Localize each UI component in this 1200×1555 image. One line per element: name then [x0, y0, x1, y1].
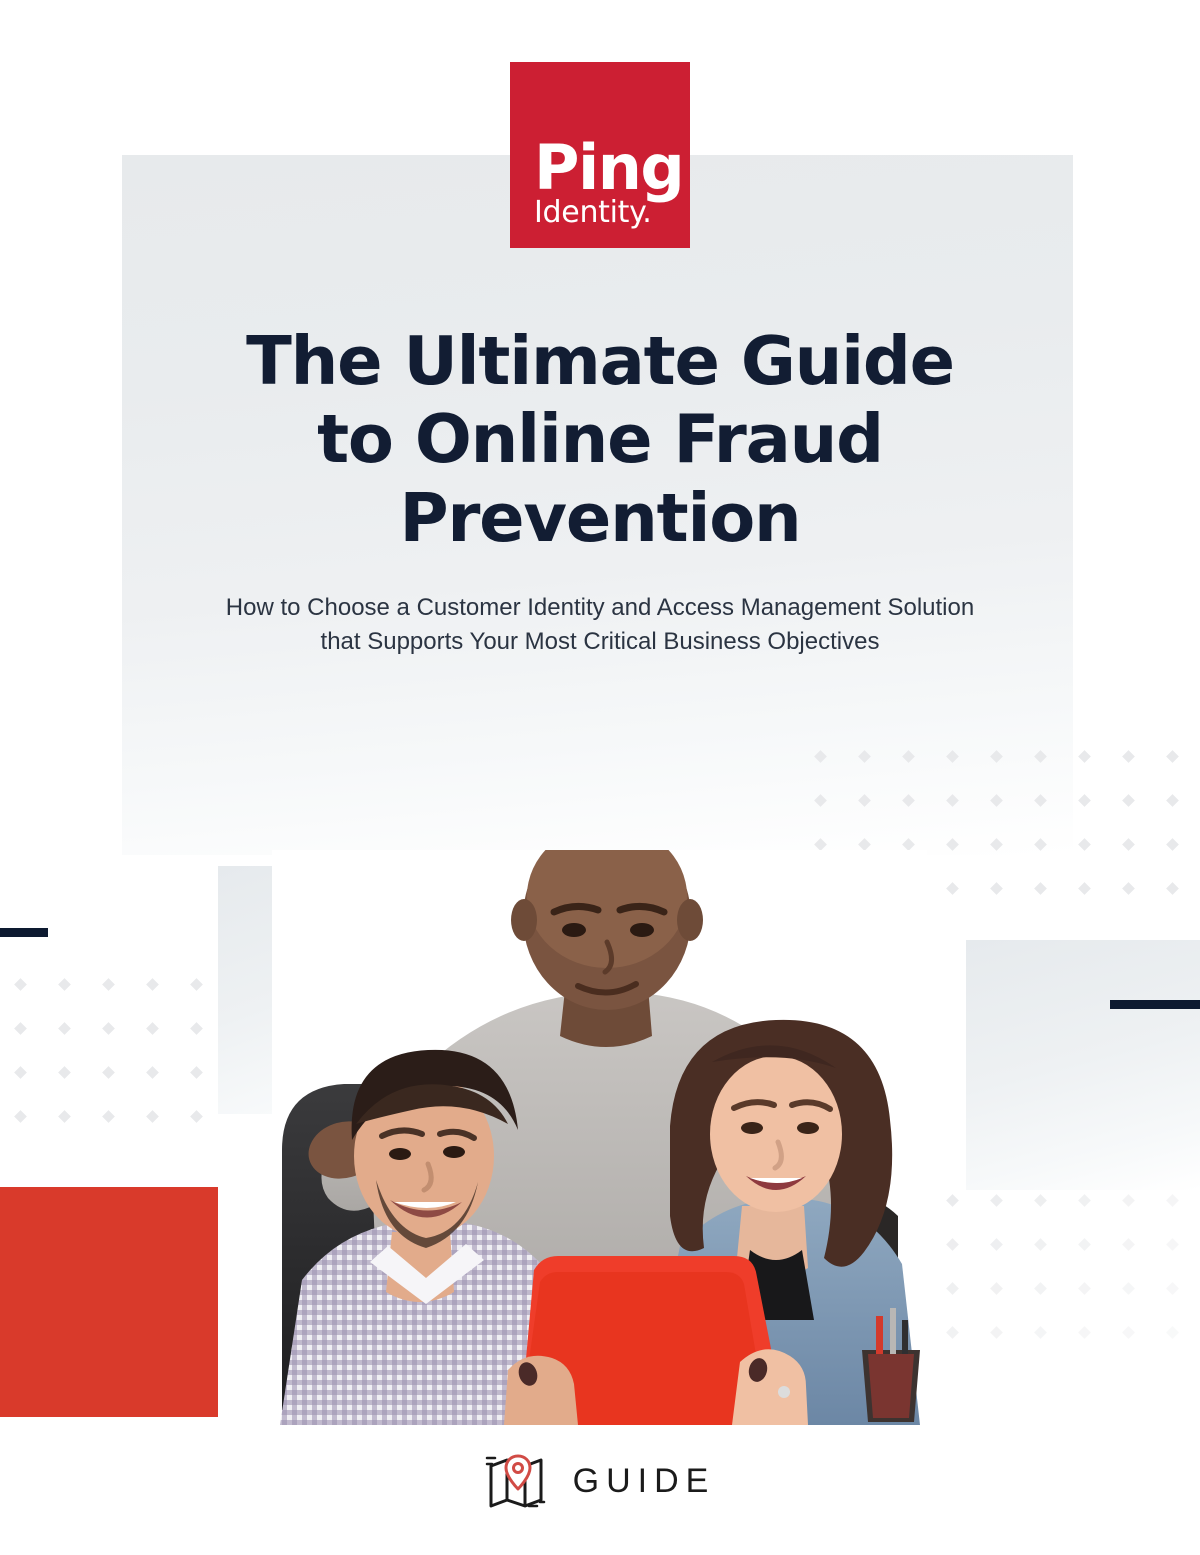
logo-wordmark-primary: Ping	[534, 139, 683, 196]
decorative-dot	[1034, 882, 1047, 895]
title-block: The Ultimate Guide to Online Fraud Preve…	[130, 322, 1070, 659]
decorative-dot	[990, 882, 1003, 895]
decorative-dot	[946, 882, 959, 895]
decorative-dot	[1122, 838, 1135, 851]
decorative-dot	[14, 1066, 27, 1079]
decorative-dot	[946, 750, 959, 763]
decorative-dot	[990, 838, 1003, 851]
decorative-dot	[946, 1238, 959, 1251]
decorative-dot	[1078, 750, 1091, 763]
decorative-dot	[902, 750, 915, 763]
decorative-dot	[1166, 1282, 1179, 1295]
decorative-dot	[146, 1066, 159, 1079]
decorative-dot-grid-left	[16, 980, 236, 1156]
decorative-dot	[1122, 1282, 1135, 1295]
decorative-dot	[146, 1022, 159, 1035]
decorative-dot	[902, 838, 915, 851]
decorative-dot	[1166, 838, 1179, 851]
title-line-1: The Ultimate Guide	[246, 322, 954, 400]
accent-bar-navy-left	[0, 928, 48, 937]
decorative-dot	[1166, 750, 1179, 763]
decorative-dot	[1034, 794, 1047, 807]
document-type-label: GUIDE	[573, 1462, 716, 1501]
decorative-dot	[1122, 1326, 1135, 1339]
decorative-gradient-square-right	[966, 940, 1200, 1190]
decorative-dot	[58, 1022, 71, 1035]
decorative-dot	[1078, 794, 1091, 807]
decorative-dot	[990, 794, 1003, 807]
accent-bar-navy-right	[1110, 1000, 1200, 1009]
decorative-dot	[814, 750, 827, 763]
decorative-dot	[946, 794, 959, 807]
decorative-dot	[146, 1110, 159, 1123]
decorative-dot	[1078, 1326, 1091, 1339]
decorative-dot	[14, 978, 27, 991]
hero-photo	[272, 850, 927, 1425]
decorative-dot	[858, 750, 871, 763]
decorative-dot	[990, 1238, 1003, 1251]
decorative-dot	[190, 1066, 203, 1079]
decorative-dot	[1122, 882, 1135, 895]
decorative-dot	[1166, 1326, 1179, 1339]
decorative-dot	[14, 1022, 27, 1035]
page-title: The Ultimate Guide to Online Fraud Preve…	[130, 322, 1070, 557]
subtitle-line-1: How to Choose a Customer Identity and Ac…	[226, 594, 974, 621]
decorative-dot	[1034, 838, 1047, 851]
subtitle-line-2: that Supports Your Most Critical Busines…	[321, 628, 880, 655]
decorative-dot	[1078, 838, 1091, 851]
decorative-dot	[902, 794, 915, 807]
decorative-dot	[1034, 1282, 1047, 1295]
decorative-dot	[990, 750, 1003, 763]
decorative-dot	[1166, 1238, 1179, 1251]
decorative-dot	[1122, 794, 1135, 807]
decorative-dot	[946, 838, 959, 851]
decorative-dot	[990, 1194, 1003, 1207]
decorative-dot	[1122, 1238, 1135, 1251]
decorative-dot	[1078, 1282, 1091, 1295]
decorative-dot	[190, 1110, 203, 1123]
page-subtitle: How to Choose a Customer Identity and Ac…	[170, 591, 1030, 659]
title-line-2: to Online Fraud	[317, 400, 883, 478]
logo-wordmark-secondary: Identity.	[534, 198, 652, 228]
decorative-dot	[102, 1022, 115, 1035]
decorative-dot	[814, 838, 827, 851]
decorative-dot	[1166, 882, 1179, 895]
decorative-dot	[102, 1066, 115, 1079]
decorative-dot	[1166, 794, 1179, 807]
title-line-3: Prevention	[399, 479, 800, 557]
decorative-dot	[1078, 1194, 1091, 1207]
decorative-dot	[1034, 1194, 1047, 1207]
decorative-dot	[1034, 1238, 1047, 1251]
decorative-dot	[58, 978, 71, 991]
decorative-dot	[102, 978, 115, 991]
decorative-dot	[1122, 750, 1135, 763]
decorative-dot	[946, 1282, 959, 1295]
decorative-dot	[814, 794, 827, 807]
map-pin-icon	[485, 1452, 547, 1510]
decorative-dot	[1122, 1194, 1135, 1207]
document-cover-page: Ping Identity. The Ultimate Guide to Onl…	[0, 0, 1200, 1555]
decorative-dot	[1078, 1238, 1091, 1251]
decorative-dot	[946, 1194, 959, 1207]
decorative-dot	[58, 1110, 71, 1123]
decorative-dot	[858, 794, 871, 807]
decorative-dot	[1078, 882, 1091, 895]
decorative-dot	[190, 978, 203, 991]
accent-square-red	[0, 1187, 218, 1417]
decorative-dot	[190, 1022, 203, 1035]
decorative-dot	[1034, 750, 1047, 763]
decorative-dot	[946, 1326, 959, 1339]
decorative-dot	[1166, 1194, 1179, 1207]
document-type-badge: GUIDE	[0, 1452, 1200, 1510]
decorative-dot	[146, 978, 159, 991]
ping-identity-logo: Ping Identity.	[510, 62, 690, 248]
decorative-dot	[102, 1110, 115, 1123]
decorative-dot	[990, 1326, 1003, 1339]
decorative-dot	[14, 1110, 27, 1123]
decorative-dot	[58, 1066, 71, 1079]
decorative-dot	[1034, 1326, 1047, 1339]
decorative-dot	[990, 1282, 1003, 1295]
decorative-dot-grid-lower-right	[904, 1196, 1200, 1372]
decorative-dot	[858, 838, 871, 851]
